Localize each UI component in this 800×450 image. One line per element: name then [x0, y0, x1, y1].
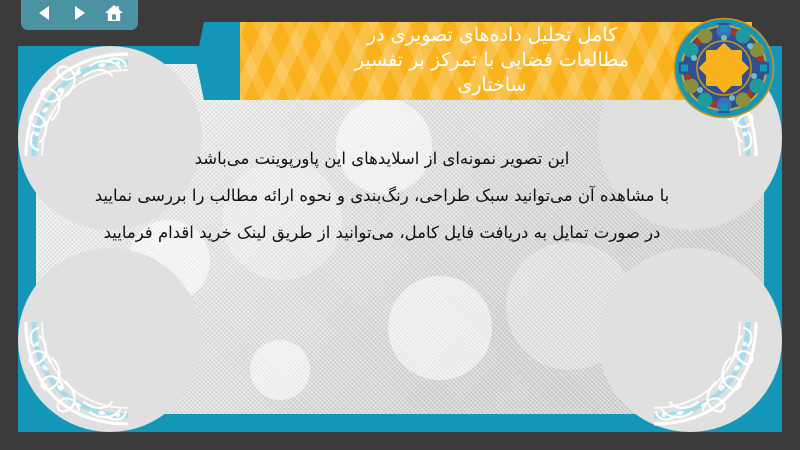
body-line: در صورت تمایل به دریافت فایل کامل، می‌تو… [104, 214, 661, 251]
triangle-right-icon [70, 4, 88, 22]
forward-button[interactable] [66, 1, 92, 25]
title-line: کامل تحلیل داده‌های تصویری در [367, 23, 617, 48]
navigation-bar [21, 0, 138, 30]
home-button[interactable] [101, 1, 127, 25]
back-button[interactable] [32, 1, 58, 25]
persian-medallion-icon [672, 16, 776, 120]
slide-body-text: این تصویر نمونه‌ای از اسلایدهای این پاور… [36, 64, 728, 394]
slide-viewer: این تصویر نمونه‌ای از اسلایدهای این پاور… [0, 0, 800, 450]
home-icon [104, 4, 124, 23]
triangle-left-icon [36, 4, 54, 22]
body-line: این تصویر نمونه‌ای از اسلایدهای این پاور… [195, 140, 570, 177]
body-line: با مشاهده آن می‌توانید سبک طراحی، رنگ‌بن… [95, 177, 670, 214]
